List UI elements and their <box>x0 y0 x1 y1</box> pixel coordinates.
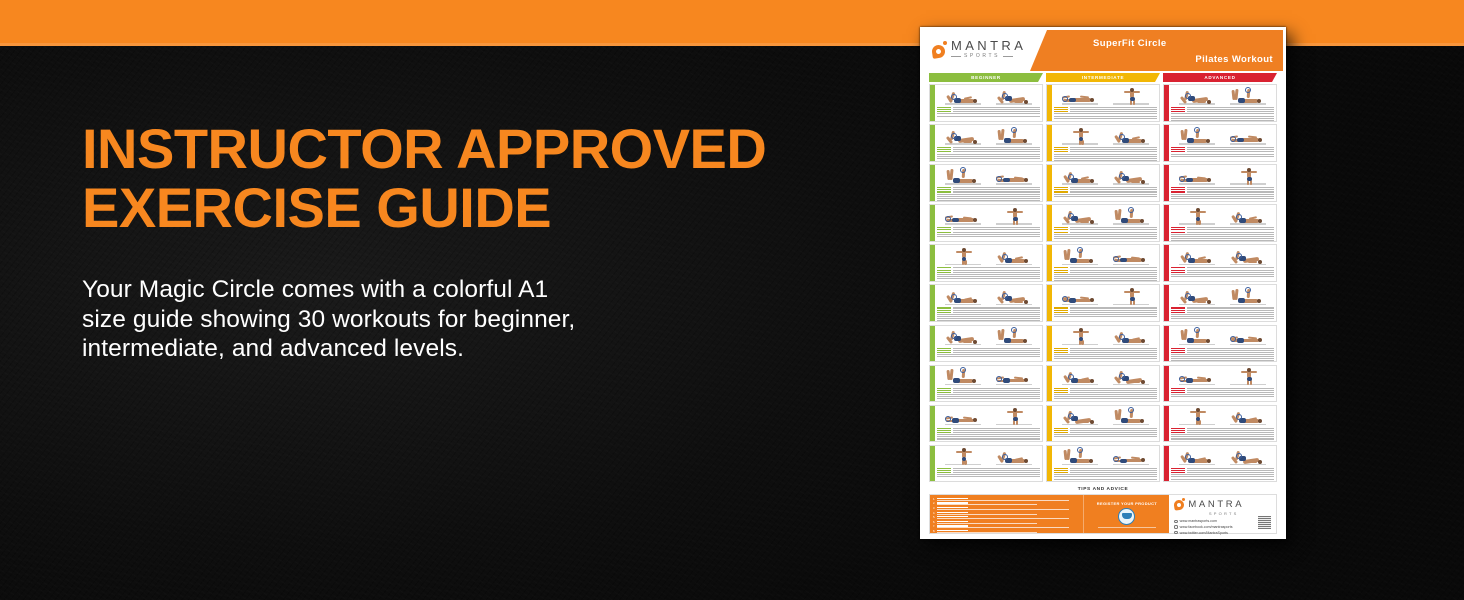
list-item: www.twitter.com/MantraSports <box>1174 531 1273 535</box>
exercise-description-lines <box>1054 186 1157 199</box>
exercise-figure <box>1060 368 1100 386</box>
exercise-description-lines <box>1054 466 1157 479</box>
exercise-figure <box>1060 328 1100 346</box>
exercise-figure <box>1228 248 1268 266</box>
exercise-figure <box>1111 448 1151 466</box>
exercise-body <box>1052 285 1159 321</box>
exercise-figure <box>994 288 1034 306</box>
exercise-illustrations <box>937 207 1040 226</box>
hero-description: Your Magic Circle comes with a colorful … <box>82 275 802 364</box>
exercise-cell[interactable] <box>1163 124 1277 162</box>
exercise-illustrations <box>937 167 1040 186</box>
tip-item: 3. <box>933 507 1080 510</box>
exercise-figure <box>1060 128 1100 146</box>
exercise-cell[interactable] <box>929 204 1043 242</box>
exercise-body <box>1052 406 1159 442</box>
tips-section: TIPS AND ADVICE 1.2.3.4.5.6.7.8. REGISTE… <box>923 485 1283 534</box>
register-badge-icon <box>1118 508 1135 525</box>
exercise-description-lines <box>1171 426 1274 439</box>
mantra-droplet-icon <box>932 41 947 58</box>
description-line-1: Your Magic Circle comes with a colorful … <box>82 275 802 305</box>
exercise-description-lines <box>937 426 1040 441</box>
exercise-illustrations <box>1054 287 1157 306</box>
exercise-figure <box>1177 328 1217 346</box>
exercise-figure <box>1228 128 1268 146</box>
level-header-row: BEGINNER INTERMEDIATE ADVANCED <box>923 71 1283 84</box>
exercise-description-lines <box>1054 426 1157 439</box>
exercise-illustrations <box>1054 367 1157 386</box>
poster-title-line-1: SuperFit Circle <box>1073 38 1273 49</box>
exercise-figure <box>1111 128 1151 146</box>
exercise-figure <box>943 288 983 306</box>
twitter-icon <box>1174 531 1177 534</box>
exercise-description-lines <box>937 386 1040 399</box>
exercise-illustrations <box>1171 367 1274 386</box>
tips-band: 1.2.3.4.5.6.7.8. REGISTER YOUR PRODUCT M… <box>929 494 1277 534</box>
exercise-illustrations <box>1054 447 1157 466</box>
footer-url-website: www.mantrasports.com <box>1180 519 1217 523</box>
exercise-figure <box>994 328 1034 346</box>
exercise-figure <box>1177 368 1217 386</box>
exercise-column-advanced <box>1163 84 1277 482</box>
tip-item: 4. <box>933 512 1080 515</box>
exercise-cell[interactable] <box>929 325 1043 363</box>
exercise-figure <box>1060 288 1100 306</box>
exercise-body <box>1052 446 1159 482</box>
exercise-figure <box>1177 88 1217 106</box>
exercise-figure <box>1060 248 1100 266</box>
headline-line-2: EXERCISE GUIDE <box>82 178 802 237</box>
exercise-cell[interactable] <box>929 405 1043 443</box>
exercise-cell[interactable] <box>1163 164 1277 202</box>
exercise-figure <box>943 328 983 346</box>
exercise-cell[interactable] <box>1046 84 1160 122</box>
exercise-figure <box>1228 288 1268 306</box>
qr-code-wrap <box>1258 516 1271 529</box>
exercise-figure <box>1228 168 1268 186</box>
exercise-figure <box>1111 88 1151 106</box>
footer-url-twitter: www.twitter.com/MantraSports <box>1180 531 1228 535</box>
exercise-figure <box>1111 208 1151 226</box>
exercise-figure <box>1177 408 1217 426</box>
exercise-figure <box>943 408 983 426</box>
exercise-body <box>935 245 1042 281</box>
exercise-illustrations <box>1171 407 1274 426</box>
exercise-cell[interactable] <box>1046 325 1160 363</box>
exercise-illustrations <box>1171 127 1274 146</box>
exercise-figure <box>994 448 1034 466</box>
exercise-body <box>935 85 1042 121</box>
exercise-body <box>1052 125 1159 161</box>
exercise-cell[interactable] <box>1163 244 1277 282</box>
exercise-cell[interactable] <box>1163 84 1277 122</box>
exercise-figure <box>943 88 983 106</box>
exercise-body <box>1169 406 1276 442</box>
exercise-illustrations <box>937 127 1040 146</box>
exercise-body <box>1052 326 1159 362</box>
exercise-illustrations <box>937 367 1040 386</box>
exercise-description-lines <box>937 146 1040 159</box>
exercise-body <box>935 366 1042 402</box>
exercise-cell[interactable] <box>1163 284 1277 322</box>
exercise-figure <box>994 208 1034 226</box>
exercise-illustrations <box>1171 447 1274 466</box>
exercise-cell[interactable] <box>1046 124 1160 162</box>
exercise-illustrations <box>937 287 1040 306</box>
poster-header: MANTRA SPORTS SuperFit Circle Pilates Wo… <box>923 30 1283 71</box>
tip-item: 2. <box>933 502 1080 505</box>
tip-item: 6. <box>933 521 1080 524</box>
exercise-figure <box>1060 408 1100 426</box>
exercise-body <box>1169 85 1276 121</box>
exercise-illustrations <box>1054 167 1157 186</box>
exercise-cell[interactable] <box>1046 164 1160 202</box>
tip-item: 5. <box>933 516 1080 519</box>
level-header-advanced: ADVANCED <box>1163 73 1277 82</box>
exercise-body <box>1052 366 1159 402</box>
poster-inner: MANTRA SPORTS SuperFit Circle Pilates Wo… <box>923 30 1283 536</box>
headline-line-1: INSTRUCTOR APPROVED <box>82 117 766 180</box>
exercise-figure <box>994 408 1034 426</box>
brand-tagline: SPORTS <box>951 54 1026 59</box>
exercise-cell[interactable] <box>1046 405 1160 443</box>
exercise-figure <box>1228 408 1268 426</box>
facebook-icon <box>1174 525 1177 528</box>
exercise-description-lines <box>937 186 1040 201</box>
exercise-figure <box>1111 168 1151 186</box>
tips-caption: TIPS AND ADVICE <box>929 485 1277 494</box>
exercise-figure <box>943 168 983 186</box>
level-header-beginner: BEGINNER <box>929 73 1043 82</box>
exercise-description-lines <box>1054 146 1157 161</box>
exercise-description-lines <box>1171 186 1274 199</box>
footer-logo: MANTRA <box>1174 498 1273 510</box>
exercise-body <box>935 285 1042 321</box>
exercise-illustrations <box>1171 167 1274 186</box>
exercise-description-lines <box>937 266 1040 279</box>
exercise-cell[interactable] <box>1046 204 1160 242</box>
level-header-intermediate: INTERMEDIATE <box>1046 73 1160 82</box>
poster-title-line-2: Pilates Workout <box>1073 54 1273 65</box>
exercise-illustrations <box>937 87 1040 106</box>
exercise-description-lines <box>1171 106 1274 121</box>
exercise-figure <box>1228 328 1268 346</box>
exercise-body <box>1169 285 1276 321</box>
exercise-figure <box>994 168 1034 186</box>
exercise-description-lines <box>1054 386 1157 401</box>
exercise-illustrations <box>1171 287 1274 306</box>
exercise-figure <box>943 448 983 466</box>
exercise-description-lines <box>1171 306 1274 319</box>
exercise-figure <box>1060 168 1100 186</box>
exercise-cell[interactable] <box>929 84 1043 122</box>
exercise-illustrations <box>1171 247 1274 266</box>
tip-item: 8. <box>933 530 1080 533</box>
exercise-column-intermediate <box>1046 84 1160 482</box>
exercise-description-lines <box>937 226 1040 239</box>
tip-item: 1. <box>933 498 1080 501</box>
exercise-cell[interactable] <box>1046 365 1160 403</box>
exercise-description-lines <box>937 346 1040 359</box>
exercise-figure <box>1228 368 1268 386</box>
exercise-body <box>1169 205 1276 241</box>
exercise-figure <box>994 248 1034 266</box>
exercise-figure <box>1228 448 1268 466</box>
exercise-figure <box>943 368 983 386</box>
poster-brand-logo: MANTRA SPORTS <box>932 39 1026 59</box>
exercise-figure <box>1177 448 1217 466</box>
exercise-illustrations <box>937 407 1040 426</box>
exercise-figure <box>994 368 1034 386</box>
footer-url-facebook: www.facebook.com/mantrasports <box>1180 525 1233 529</box>
exercise-cell[interactable] <box>1163 405 1277 443</box>
exercise-cell[interactable] <box>929 365 1043 403</box>
exercise-description-lines <box>937 306 1040 321</box>
exercise-illustrations <box>1171 327 1274 346</box>
exercise-figure <box>1060 448 1100 466</box>
exercise-body <box>935 326 1042 362</box>
exercise-body <box>1169 326 1276 362</box>
exercise-cell[interactable] <box>929 124 1043 162</box>
exercise-description-lines <box>1054 226 1157 239</box>
globe-icon <box>1174 520 1177 523</box>
exercise-figure <box>1111 328 1151 346</box>
exercise-cell[interactable] <box>1163 204 1277 242</box>
exercise-description-lines <box>937 466 1040 479</box>
tips-text-block: 1.2.3.4.5.6.7.8. <box>930 495 1083 533</box>
exercise-cell[interactable] <box>1163 325 1277 363</box>
exercise-illustrations <box>1054 127 1157 146</box>
exercise-column-beginner <box>929 84 1043 482</box>
exercise-cell[interactable] <box>929 445 1043 483</box>
exercise-figure <box>1111 248 1151 266</box>
exercise-description-lines <box>1171 386 1274 399</box>
qr-code-icon <box>1258 516 1271 529</box>
exercise-body <box>1169 245 1276 281</box>
exercise-figure <box>1228 88 1268 106</box>
exercise-figure <box>994 88 1034 106</box>
exercise-description-lines <box>937 106 1040 119</box>
poster-title: SuperFit Circle Pilates Workout <box>1073 38 1273 65</box>
exercise-illustrations <box>937 327 1040 346</box>
brand-name: MANTRA <box>951 39 1026 52</box>
description-line-3: intermediate, and advanced levels. <box>82 334 802 364</box>
exercise-body <box>1052 245 1159 281</box>
exercise-figure <box>1111 288 1151 306</box>
exercise-body <box>1169 446 1276 482</box>
poster-footer-brand: MANTRA SPORTS www.mantrasports.com www.f… <box>1169 495 1276 533</box>
exercise-figure <box>1060 208 1100 226</box>
exercise-figure <box>943 248 983 266</box>
exercise-illustrations <box>1171 87 1274 106</box>
tip-item: 7. <box>933 525 1080 528</box>
exercise-figure <box>1177 208 1217 226</box>
footer-brand-name: MANTRA <box>1188 499 1244 510</box>
exercise-illustrations <box>937 447 1040 466</box>
exercise-description-lines <box>1054 346 1157 359</box>
exercise-figure <box>943 208 983 226</box>
exercise-figure <box>1177 248 1217 266</box>
exercise-figure <box>1111 408 1151 426</box>
exercise-cell[interactable] <box>929 284 1043 322</box>
register-product-block: REGISTER YOUR PRODUCT <box>1083 495 1169 533</box>
exercise-description-lines <box>1054 106 1157 119</box>
exercise-body <box>935 125 1042 161</box>
exercise-description-lines <box>1054 266 1157 281</box>
exercise-body <box>1169 366 1276 402</box>
exercise-body <box>1169 125 1276 161</box>
exercise-poster: MANTRA SPORTS SuperFit Circle Pilates Wo… <box>920 27 1286 539</box>
exercise-illustrations <box>937 247 1040 266</box>
exercise-description-lines <box>1171 146 1274 159</box>
description-line-2: size guide showing 30 workouts for begin… <box>82 305 802 335</box>
page-title: INSTRUCTOR APPROVED EXERCISE GUIDE <box>82 119 802 237</box>
exercise-description-lines <box>1054 306 1157 319</box>
hero-copy-block: INSTRUCTOR APPROVED EXERCISE GUIDE Your … <box>82 119 802 364</box>
exercise-body <box>935 205 1042 241</box>
exercise-description-lines <box>1171 226 1274 241</box>
mantra-droplet-icon-footer <box>1174 498 1185 510</box>
exercise-figure <box>1111 368 1151 386</box>
exercise-grid <box>923 84 1283 482</box>
exercise-body <box>935 406 1042 442</box>
exercise-illustrations <box>1054 87 1157 106</box>
exercise-description-lines <box>1171 466 1274 481</box>
exercise-body <box>1052 85 1159 121</box>
exercise-body <box>1169 165 1276 201</box>
exercise-illustrations <box>1054 207 1157 226</box>
exercise-figure <box>1177 128 1217 146</box>
exercise-figure <box>1177 288 1217 306</box>
exercise-illustrations <box>1171 207 1274 226</box>
exercise-description-lines <box>1171 346 1274 361</box>
exercise-cell[interactable] <box>1163 365 1277 403</box>
exercise-illustrations <box>1054 407 1157 426</box>
brand-wordmark: MANTRA SPORTS <box>951 39 1026 59</box>
register-fineprint <box>1098 527 1156 528</box>
exercise-cell[interactable] <box>929 244 1043 282</box>
exercise-cell[interactable] <box>1046 445 1160 483</box>
exercise-body <box>1052 165 1159 201</box>
exercise-body <box>935 165 1042 201</box>
exercise-figure <box>994 128 1034 146</box>
exercise-cell[interactable] <box>1046 284 1160 322</box>
exercise-illustrations <box>1054 247 1157 266</box>
exercise-description-lines <box>1171 266 1274 279</box>
exercise-figure <box>1060 88 1100 106</box>
register-caption: REGISTER YOUR PRODUCT <box>1097 501 1157 506</box>
exercise-figure <box>1177 168 1217 186</box>
exercise-cell[interactable] <box>929 164 1043 202</box>
exercise-cell[interactable] <box>1163 445 1277 483</box>
exercise-figure <box>1228 208 1268 226</box>
exercise-body <box>935 446 1042 482</box>
exercise-body <box>1052 205 1159 241</box>
exercise-illustrations <box>1054 327 1157 346</box>
exercise-cell[interactable] <box>1046 244 1160 282</box>
exercise-figure <box>943 128 983 146</box>
